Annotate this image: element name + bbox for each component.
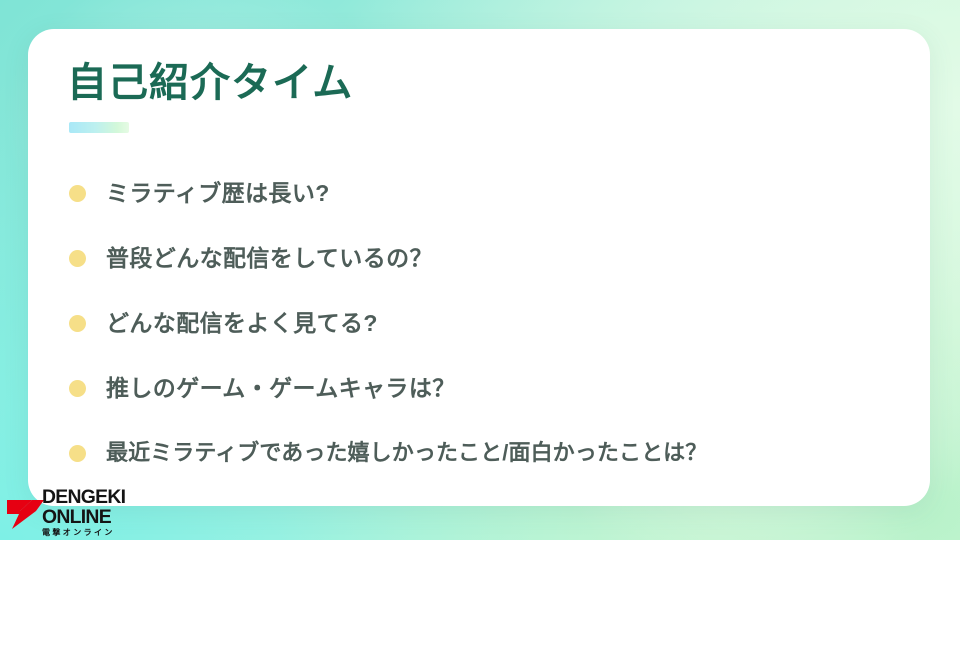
list-item: 推しのゲーム・ゲームキャラは？ xyxy=(69,356,906,421)
bullet-dot-icon xyxy=(69,185,86,202)
bullet-dot-icon xyxy=(69,250,86,267)
logo-subtitle-japanese: 電撃オンライン xyxy=(42,528,138,537)
title-accent-bar xyxy=(69,122,129,133)
list-item-label: ミラティブ歴は長い? xyxy=(106,180,330,208)
lightning-bolt-icon xyxy=(6,491,46,531)
logo-line-online: ONLINE xyxy=(42,508,140,527)
bullet-dot-icon xyxy=(69,315,86,332)
list-item-label: どんな配信をよく見てる? xyxy=(106,310,378,338)
dengeki-online-logo: DENGEKI ONLINE 電撃オンライン xyxy=(6,486,138,536)
list-item: どんな配信をよく見てる? xyxy=(69,291,906,356)
content-card: 自己紹介タイム ミラティブ歴は長い? 普段どんな配信をしているの？ どんな配信を… xyxy=(28,29,930,506)
bullet-list: ミラティブ歴は長い? 普段どんな配信をしているの？ どんな配信をよく見てる? 推… xyxy=(69,161,906,486)
bullet-dot-icon xyxy=(69,445,86,462)
list-item-label: 推しのゲーム・ゲームキャラは？ xyxy=(106,375,456,403)
slide-canvas: 自己紹介タイム ミラティブ歴は長い? 普段どんな配信をしているの？ どんな配信を… xyxy=(0,0,960,540)
list-item: ミラティブ歴は長い? xyxy=(69,161,906,226)
bullet-dot-icon xyxy=(69,380,86,397)
list-item-label: 最近ミラティブであった嬉しかったこと/面白かったことは？ xyxy=(106,440,707,466)
list-item: 普段どんな配信をしているの？ xyxy=(69,226,906,291)
logo-wordmark: DENGEKI ONLINE 電撃オンライン xyxy=(42,488,138,537)
list-item-label: 普段どんな配信をしているの？ xyxy=(106,245,433,273)
list-item: 最近ミラティブであった嬉しかったこと/面白かったことは？ xyxy=(69,421,906,486)
page-title: 自己紹介タイム xyxy=(67,61,353,105)
logo-line-dengeki: DENGEKI xyxy=(42,488,140,507)
